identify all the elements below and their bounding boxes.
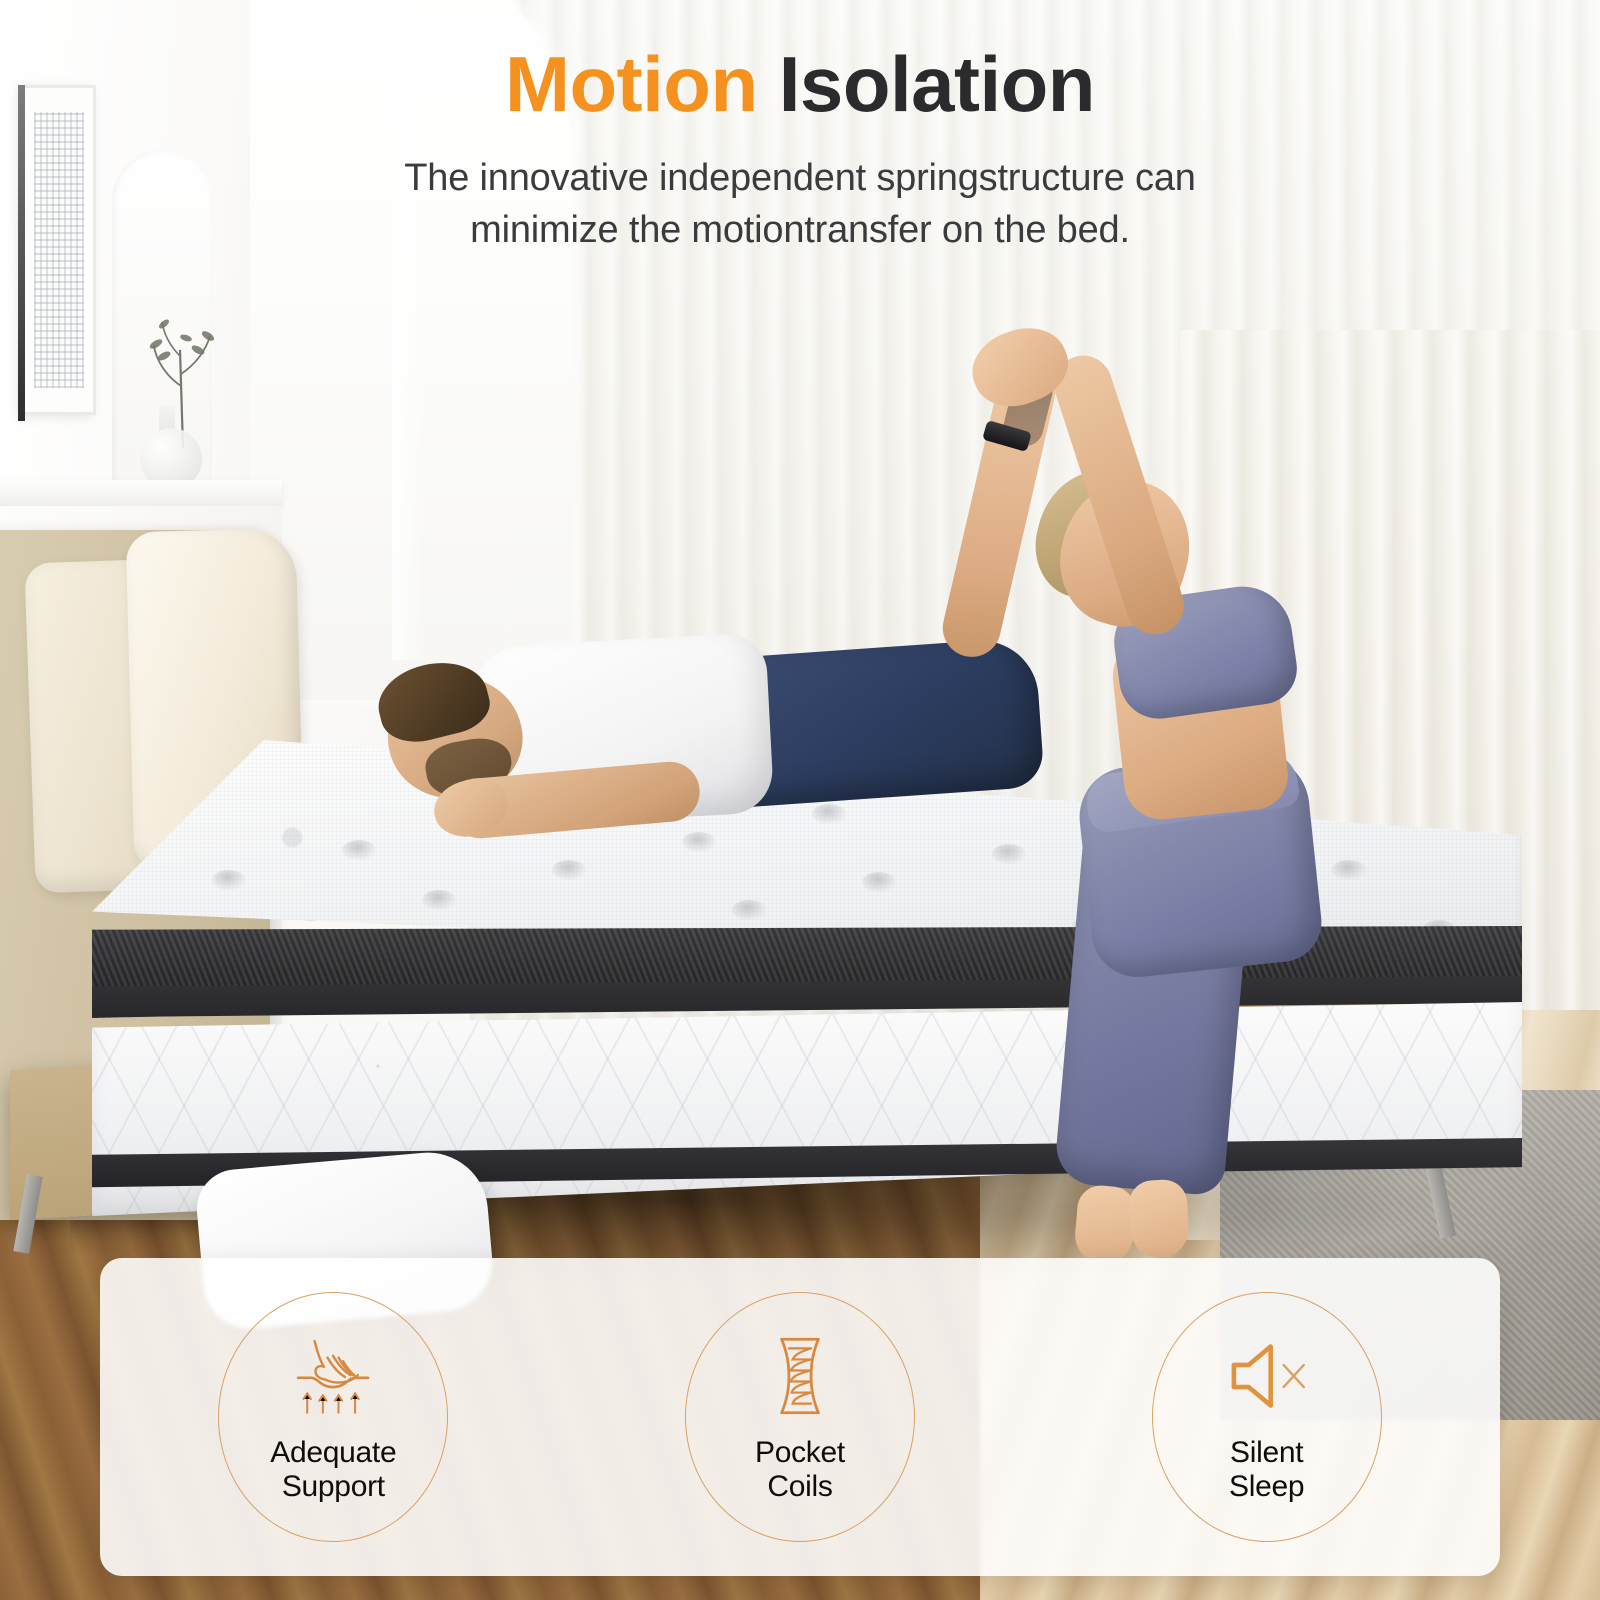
feature-label-line-1: Silent: [1229, 1436, 1304, 1470]
headline-block: Motion Isolation The innovative independ…: [0, 44, 1600, 257]
feature-label-line-2: Support: [270, 1470, 396, 1504]
product-graphic-stage: Motion Isolation The innovative independ…: [0, 0, 1600, 1600]
feature-label-pocket-coils: Pocket Coils: [755, 1436, 845, 1504]
feature-label-line-2: Sleep: [1229, 1470, 1304, 1504]
feature-label-line-1: Pocket: [755, 1436, 845, 1470]
muted-speaker-icon: [1221, 1330, 1313, 1422]
woman-foot-right: [1128, 1179, 1190, 1260]
pocket-coil-spring-icon: [754, 1330, 846, 1422]
feature-label-line-2: Coils: [755, 1470, 845, 1504]
subheading-line-1: The innovative independent springstructu…: [0, 152, 1600, 204]
feature-panel: Adequate Support Pocket Coils: [100, 1258, 1500, 1576]
feature-label-line-1: Adequate: [270, 1436, 396, 1470]
page-title: Motion Isolation: [0, 44, 1600, 126]
title-rest-word: Isolation: [779, 40, 1095, 128]
stretching-woman: [880, 330, 1360, 1310]
title-accent-word: Motion: [505, 40, 758, 128]
woman-foot-left: [1073, 1184, 1138, 1267]
subheading: The innovative independent springstructu…: [0, 152, 1600, 257]
olive-branch-icon: [128, 290, 238, 450]
hand-pressing-support-icon: [287, 1330, 379, 1422]
feature-pocket-coils[interactable]: Pocket Coils: [685, 1292, 915, 1542]
feature-label-silent-sleep: Silent Sleep: [1229, 1436, 1304, 1504]
feature-label-adequate-support: Adequate Support: [270, 1436, 396, 1504]
feature-silent-sleep[interactable]: Silent Sleep: [1152, 1292, 1382, 1542]
feature-adequate-support[interactable]: Adequate Support: [218, 1292, 448, 1542]
subheading-line-2: minimize the motiontransfer on the bed.: [0, 204, 1600, 256]
